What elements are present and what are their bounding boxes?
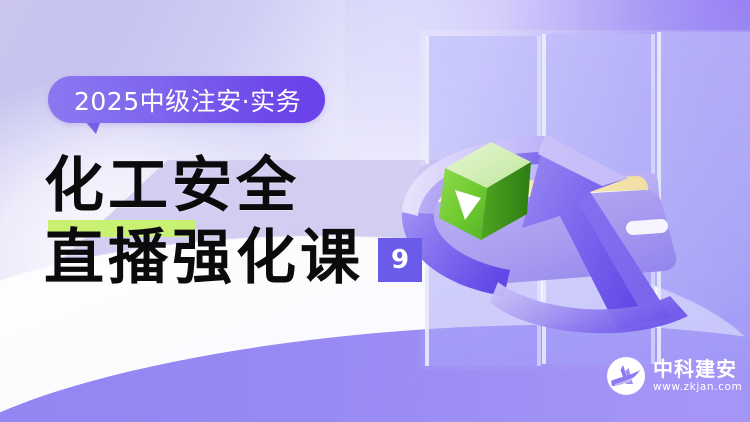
headline-line-1: 化工安全 — [44, 150, 464, 222]
course-category-label: 2025中级注安·实务 — [74, 82, 301, 118]
course-category-badge: 2025中级注安·实务 — [48, 76, 325, 123]
course-promo-banner: 2025中级注安·实务 化工安全 直播强化课 9 中科建安 www.zkjan.… — [0, 0, 750, 422]
headline-line-2: 直播强化课 — [44, 222, 364, 294]
brand-name: 中科建安 — [653, 358, 742, 380]
headline-line-2-row: 直播强化课 9 — [44, 222, 464, 294]
brand-logo[interactable]: 中科建安 www.zkjan.com — [606, 356, 742, 396]
episode-number-badge: 9 — [378, 238, 422, 282]
brand-url: www.zkjan.com — [653, 381, 742, 394]
brand-logo-text: 中科建安 www.zkjan.com — [653, 358, 742, 394]
mountain-peak-circle-icon — [606, 356, 646, 396]
headline-block: 化工安全 直播强化课 9 — [44, 150, 464, 294]
